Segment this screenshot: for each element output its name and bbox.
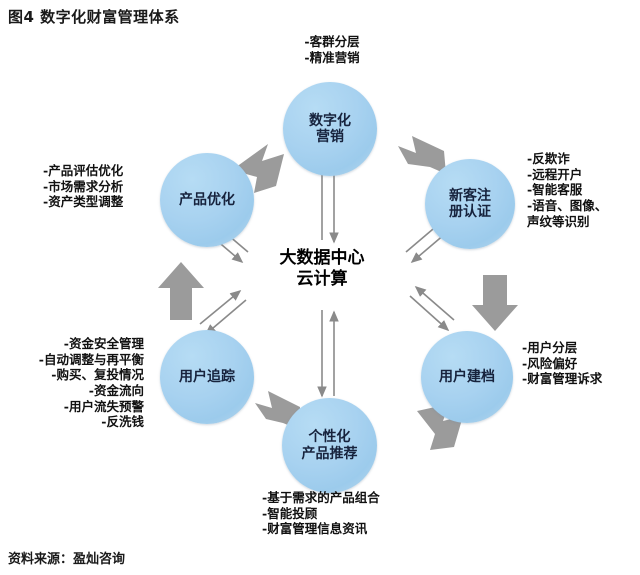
node-new-customer-registration-line1: 新客注	[449, 188, 491, 204]
block-arrow-user-tracking-to-product-optimization	[158, 262, 204, 320]
annotation-bottom-line-2: -智能投顾	[262, 506, 380, 522]
annotation-upper-right-line-5: 声纹等识别	[527, 214, 607, 230]
node-user-profiling-line1: 用户建档	[439, 369, 495, 385]
annotation-bottom: -基于需求的产品组合 -智能投顾 -财富管理信息资讯	[262, 490, 380, 537]
annotation-lower-left-line-3: -购买、复投情况	[2, 367, 144, 383]
center-hub-label: 大数据中心 云计算	[242, 248, 402, 291]
annotation-lower-left-line-1: -资金安全管理	[2, 336, 144, 352]
node-product-optimization-line1: 产品优化	[179, 192, 235, 208]
annotation-bottom-line-1: -基于需求的产品组合	[262, 490, 380, 506]
annotation-upper-left: -产品评估优化 -市场需求分析 -资产类型调整	[43, 163, 123, 210]
annotation-top-line-1: -客群分层	[272, 34, 392, 50]
annotation-lower-right-line-1: -用户分层	[522, 340, 602, 356]
annotation-upper-left-line-2: -市场需求分析	[43, 179, 123, 195]
node-product-optimization[interactable]: 产品优化	[160, 153, 254, 247]
annotation-lower-left-line-6: -反洗钱	[2, 414, 144, 430]
node-user-tracking-line1: 用户追踪	[179, 369, 235, 385]
center-hub-line2: 云计算	[242, 269, 402, 290]
annotation-upper-left-line-3: -资产类型调整	[43, 194, 123, 210]
annotation-upper-right-line-4: -语音、图像、	[527, 198, 607, 214]
node-user-tracking[interactable]: 用户追踪	[160, 330, 254, 424]
center-hub-line1: 大数据中心	[242, 248, 402, 269]
connector-center-personalized-recommendation	[322, 310, 334, 396]
node-personalized-recommendation[interactable]: 个性化 产品推荐	[282, 398, 377, 493]
annotation-upper-right-line-3: -智能客服	[527, 182, 607, 198]
annotation-lower-left-line-2: -自动调整与再平衡	[2, 352, 144, 368]
node-user-profiling[interactable]: 用户建档	[421, 331, 513, 423]
node-digital-marketing-line1: 数字化	[309, 113, 351, 129]
annotation-lower-left-line-5: -用户流失预警	[2, 399, 144, 415]
block-arrow-new-customer-registration-to-user-profiling	[472, 275, 518, 331]
annotation-upper-left-line-1: -产品评估优化	[43, 163, 123, 179]
annotation-lower-right-line-3: -财富管理诉求	[522, 371, 602, 387]
annotation-lower-right-line-2: -风险偏好	[522, 356, 602, 372]
annotation-lower-right: -用户分层 -风险偏好 -财富管理诉求	[522, 340, 602, 387]
connector-center-user-profiling	[410, 287, 454, 330]
node-personalized-recommendation-line1: 个性化	[302, 429, 358, 445]
source-note: 资料来源：盈灿咨询	[8, 548, 125, 567]
node-new-customer-registration[interactable]: 新客注 册认证	[425, 159, 515, 249]
annotation-upper-right-line-2: -远程开户	[527, 167, 607, 183]
node-digital-marketing[interactable]: 数字化 营销	[283, 82, 377, 176]
annotation-top-line-2: -精准营销	[272, 50, 392, 66]
annotation-upper-right: -反欺诈 -远程开户 -智能客服 -语音、图像、 声纹等识别	[527, 151, 607, 229]
annotation-upper-right-line-1: -反欺诈	[527, 151, 607, 167]
annotation-bottom-line-3: -财富管理信息资讯	[262, 521, 380, 537]
annotation-lower-left-line-4: -资金流向	[2, 383, 144, 399]
connector-center-user-tracking	[200, 291, 246, 334]
block-arrow-digital-marketing-to-new-customer-registration	[398, 136, 446, 174]
node-digital-marketing-line2: 营销	[309, 129, 351, 145]
annotation-top: -客群分层 -精准营销	[272, 34, 392, 65]
node-new-customer-registration-line2: 册认证	[449, 204, 491, 220]
node-personalized-recommendation-line2: 产品推荐	[302, 446, 358, 462]
annotation-lower-left: -资金安全管理 -自动调整与再平衡 -购买、复投情况 -资金流向 -用户流失预警…	[2, 336, 144, 430]
